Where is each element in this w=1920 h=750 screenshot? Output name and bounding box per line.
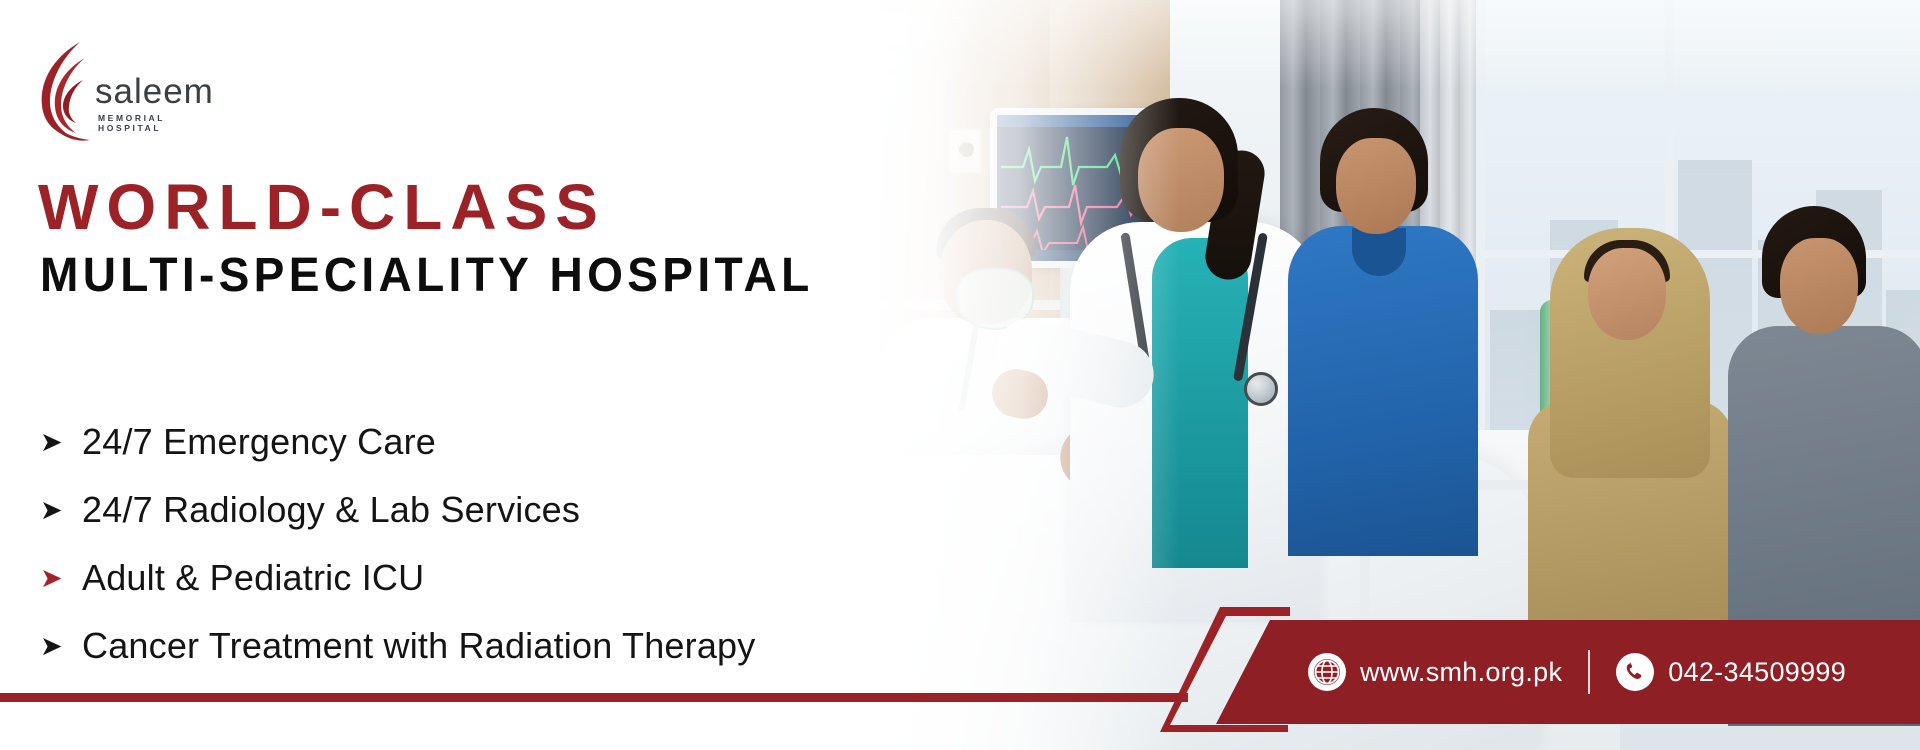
logo-wordmark: saleem MEMORIAL HOSPITAL xyxy=(95,74,214,133)
feature-item: ➤ Adult & Pediatric ICU xyxy=(40,544,755,612)
globe-icon xyxy=(1308,653,1346,691)
stethoscope-bell xyxy=(1244,372,1278,406)
hospital-promo-banner: saleem MEMORIAL HOSPITAL WORLD-CLASS MUL… xyxy=(0,0,1920,750)
bottom-accent-line xyxy=(0,693,1188,702)
feature-item: ➤ 24/7 Emergency Care xyxy=(40,408,755,476)
photo-top-fade xyxy=(760,0,1920,90)
feature-item: ➤ Cancer Treatment with Radiation Therap… xyxy=(40,612,755,680)
website-item[interactable]: www.smh.org.pk xyxy=(1308,653,1562,691)
headline-secondary: MULTI-SPECIALITY HOSPITAL xyxy=(40,252,814,300)
photo-left-fade xyxy=(760,0,1180,750)
phone-item[interactable]: 042-34509999 xyxy=(1616,653,1846,691)
feature-label: 24/7 Radiology & Lab Services xyxy=(82,489,580,531)
arrow-bullet-icon: ➤ xyxy=(40,429,82,456)
visitor-woman-face xyxy=(1588,248,1666,340)
visitor-man-face xyxy=(1780,238,1858,334)
logo[interactable]: saleem MEMORIAL HOSPITAL xyxy=(33,36,193,146)
website-label: www.smh.org.pk xyxy=(1360,657,1562,688)
feature-list: ➤ 24/7 Emergency Care ➤ 24/7 Radiology &… xyxy=(40,408,755,680)
phone-label: 042-34509999 xyxy=(1668,657,1846,688)
crescent-swoosh-icon xyxy=(33,36,93,141)
contact-bar-content: www.smh.org.pk 042-34509999 xyxy=(1216,620,1920,724)
feature-label: Cancer Treatment with Radiation Therapy xyxy=(82,625,755,667)
arrow-bullet-icon: ➤ xyxy=(40,565,82,592)
contact-divider xyxy=(1588,650,1590,694)
feature-item: ➤ 24/7 Radiology & Lab Services xyxy=(40,476,755,544)
headline-primary: WORLD-CLASS xyxy=(38,175,606,239)
phone-icon xyxy=(1616,653,1654,691)
logo-subtitle: MEMORIAL HOSPITAL xyxy=(98,113,214,133)
arrow-bullet-icon: ➤ xyxy=(40,497,82,524)
feature-label: Adult & Pediatric ICU xyxy=(82,557,424,599)
nurse-face xyxy=(1336,138,1416,234)
arrow-bullet-icon: ➤ xyxy=(40,633,82,660)
feature-label: 24/7 Emergency Care xyxy=(82,421,436,463)
logo-name: saleem xyxy=(95,74,214,109)
